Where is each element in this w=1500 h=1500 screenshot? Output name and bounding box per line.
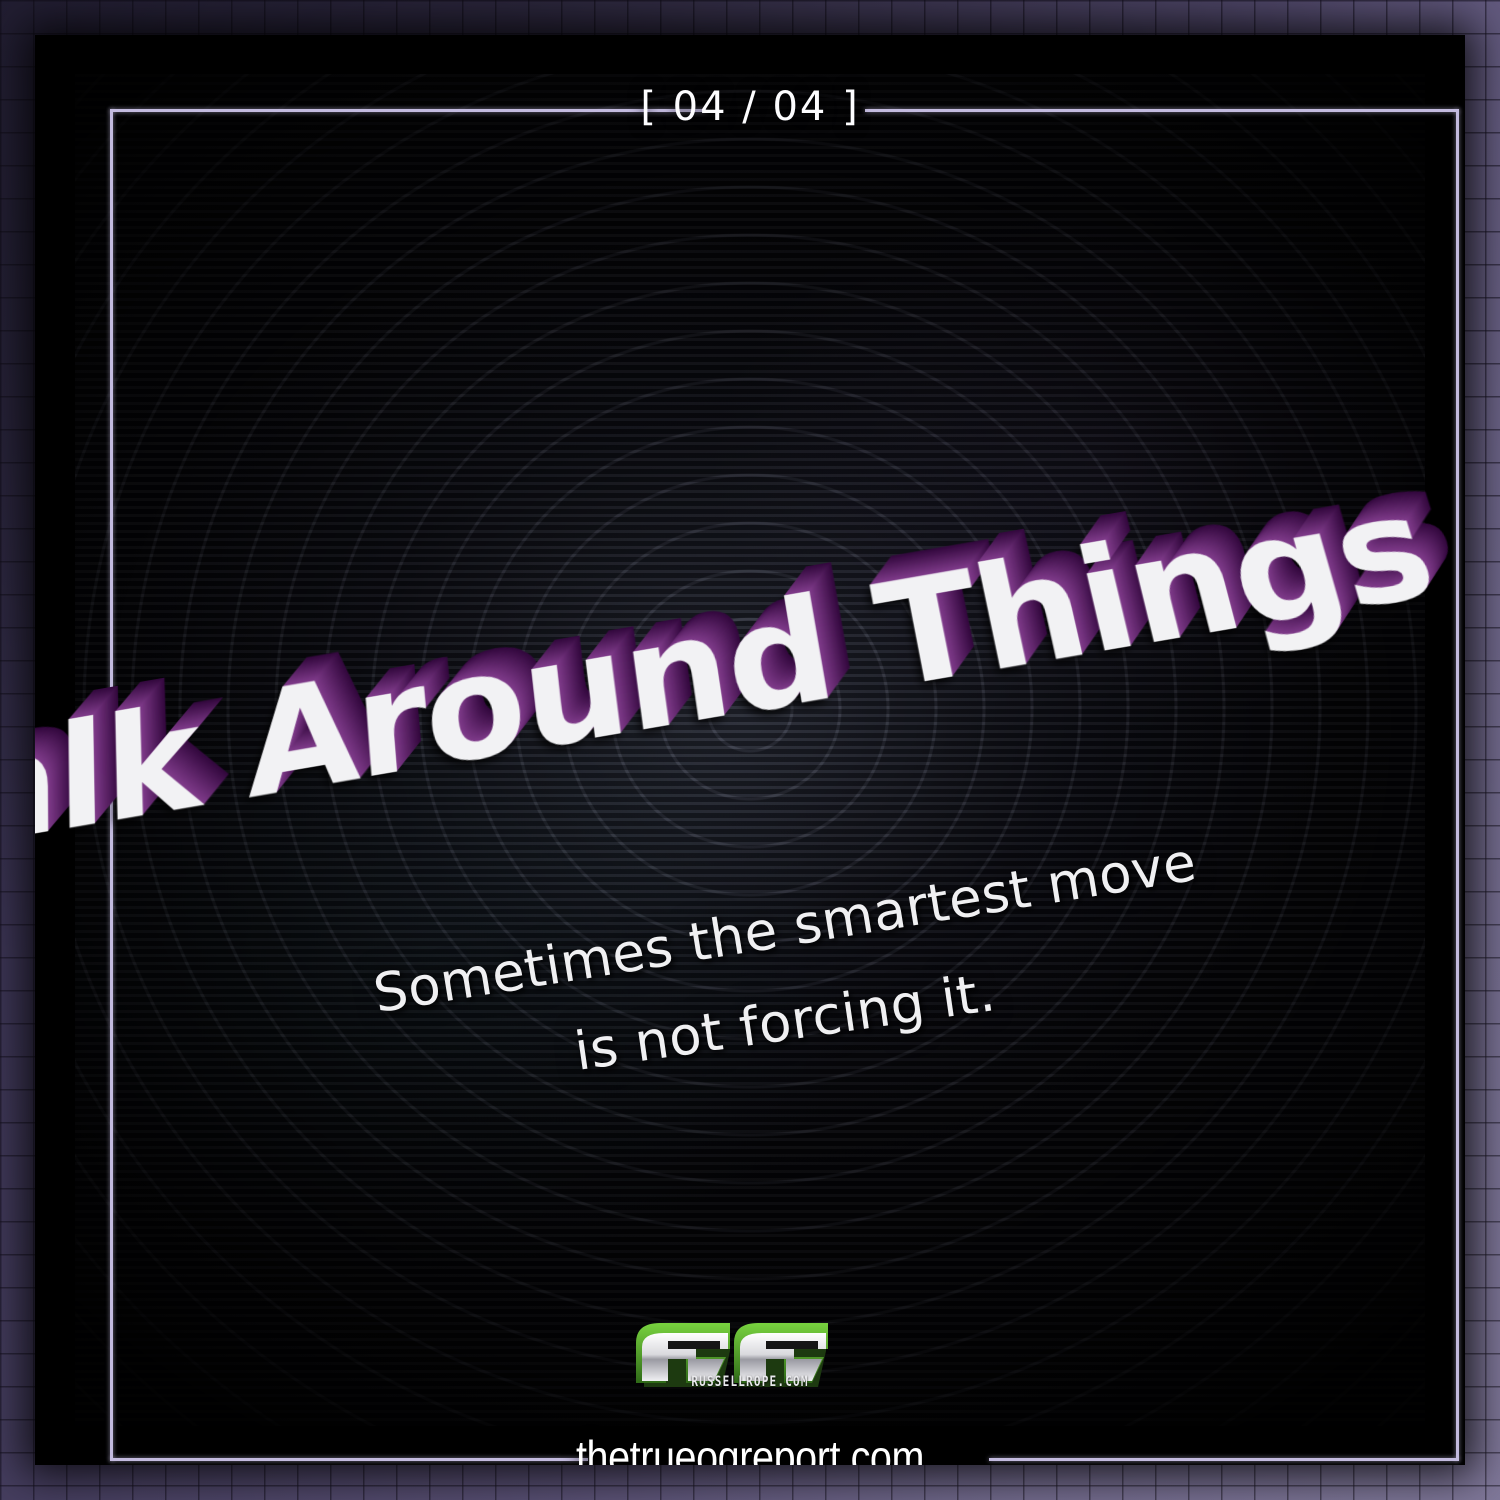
rr-monogram-icon [620,1307,880,1417]
footer-website-url[interactable]: thetrueogreport.com [135,1430,1365,1465]
title-block: Walk Around Things Day [35,490,1465,820]
page-counter: [ 04 / 04 ] [35,84,1465,130]
poster-canvas: [ 04 / 04 ] Walk Around Things Day Somet… [0,0,1500,1500]
poster-card: [ 04 / 04 ] Walk Around Things Day Somet… [35,35,1465,1465]
logo-tagline: RUSSELLROPE.COM [620,1373,880,1389]
brand-logo[interactable]: RUSSELLROPE.COM [620,1307,880,1417]
subtitle-block: Sometimes the smartest move is not forci… [35,880,1465,1100]
